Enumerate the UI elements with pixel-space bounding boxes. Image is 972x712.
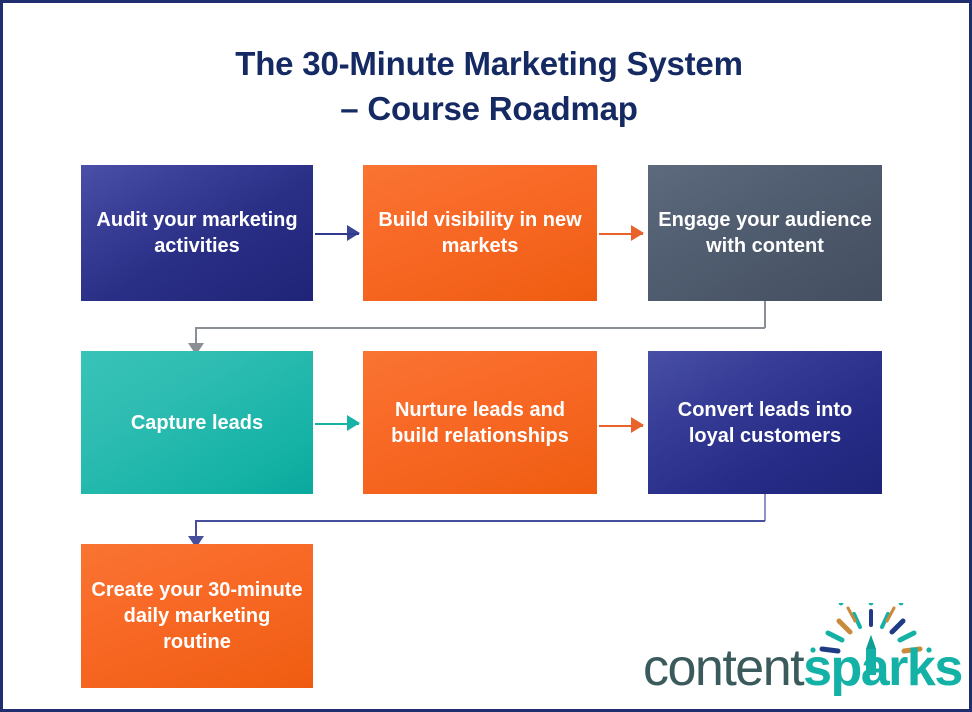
- connector-engage-to-capture-seg-down: [764, 301, 766, 328]
- connector-build-to-engage-arrowhead-icon: [631, 225, 644, 241]
- logo-wordmark: contentsparks: [643, 638, 962, 698]
- flow-node-nurture-leads-and-build-relationships[interactable]: Nurture leads and build relationships: [363, 351, 597, 494]
- logo-word-content: content: [643, 639, 803, 697]
- connector-convert-to-create-seg-left: [195, 520, 765, 522]
- flow-node-label: Create your 30-minute daily marketing ro…: [91, 577, 303, 655]
- page-title: The 30-Minute Marketing System – Course …: [3, 41, 972, 131]
- flow-node-create-your-30-minute-daily-marketing-routine[interactable]: Create your 30-minute daily marketing ro…: [81, 544, 313, 688]
- flow-node-build-visibility-in-new-markets[interactable]: Build visibility in new markets: [363, 165, 597, 301]
- title-line-2: – Course Roadmap: [3, 86, 972, 131]
- title-line-1: The 30-Minute Marketing System: [3, 41, 972, 86]
- flow-node-audit-your-marketing-activities[interactable]: Audit your marketing activities: [81, 165, 313, 301]
- flow-node-label: Convert leads into loyal customers: [658, 397, 872, 449]
- flow-node-label: Audit your marketing activities: [91, 207, 303, 259]
- flow-node-capture-leads[interactable]: Capture leads: [81, 351, 313, 494]
- flow-node-label: Nurture leads and build relationships: [373, 397, 587, 449]
- connector-audit-to-build-arrowhead-icon: [347, 225, 360, 241]
- connector-capture-to-nurture-arrowhead-icon: [347, 415, 360, 431]
- logo-word-sparks: sparks: [803, 639, 962, 697]
- flow-node-label: Capture leads: [91, 410, 303, 436]
- contentsparks-logo: contentsparks: [643, 603, 953, 698]
- flow-node-engage-your-audience-with-content[interactable]: Engage your audience with content: [648, 165, 882, 301]
- connector-nurture-to-convert-arrowhead-icon: [631, 417, 644, 433]
- flow-node-convert-leads-into-loyal-customers[interactable]: Convert leads into loyal customers: [648, 351, 882, 494]
- connector-convert-to-create-seg-down: [764, 494, 766, 521]
- slide-canvas: The 30-Minute Marketing System – Course …: [0, 0, 972, 712]
- connector-engage-to-capture-seg-left: [195, 327, 765, 329]
- flow-node-label: Engage your audience with content: [658, 207, 872, 259]
- flow-node-label: Build visibility in new markets: [373, 207, 587, 259]
